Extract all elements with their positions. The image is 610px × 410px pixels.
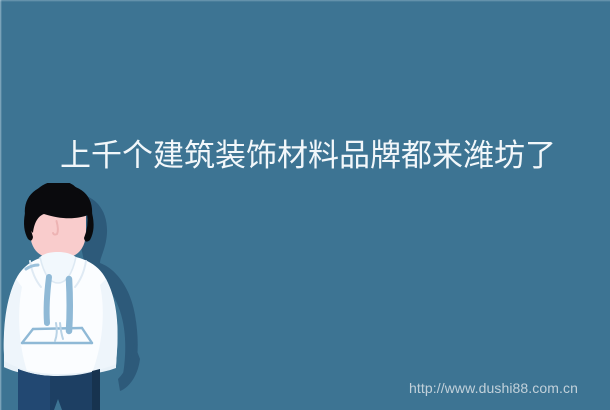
drawstring-right [69,279,70,331]
watermark-url: http://www.dushi88.com.cn [409,379,578,397]
drawstring-left [47,277,49,323]
top-edge-highlight [0,0,610,2]
page-title: 上千个建筑装饰材料品牌都来潍坊了 [60,136,580,176]
person-illustration [0,183,150,410]
article-banner: 上千个建筑装饰材料品牌都来潍坊了 http://www.dushi88.com.… [0,0,610,410]
